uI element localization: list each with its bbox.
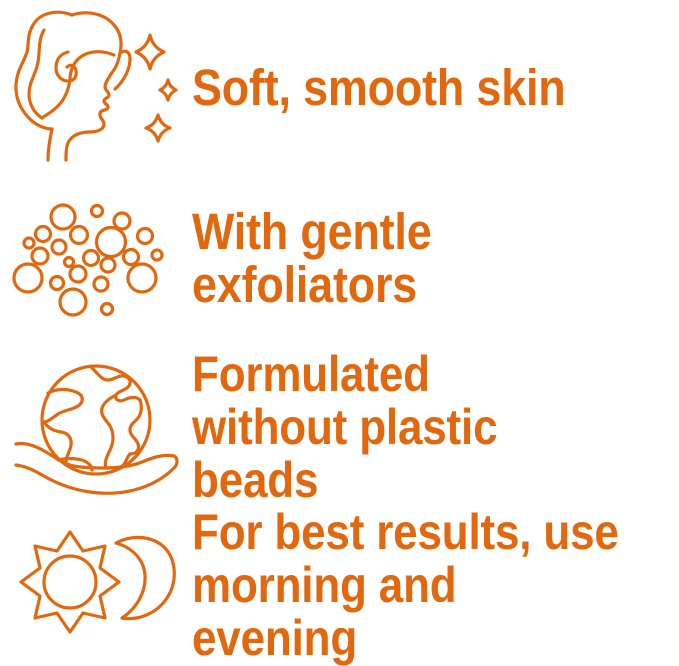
sun-and-moon-icon [0, 530, 195, 640]
benefit-row: For best results, use morning and evenin… [0, 515, 679, 655]
hand-holding-globe-icon [0, 358, 195, 498]
benefit-row: Formulated without plastic beads [0, 340, 679, 515]
benefit-label: Soft, smooth skin [192, 61, 621, 114]
face-with-sparkles-icon [0, 8, 195, 168]
product-benefits-list: Soft, smooth skin [0, 0, 679, 655]
benefit-row: Soft, smooth skin [0, 0, 679, 175]
benefit-row: With gentle exfoliators [0, 175, 679, 340]
benefit-label: Formulated without plastic beads [192, 348, 621, 507]
benefit-label: With gentle exfoliators [192, 205, 621, 311]
exfoliating-beads-bubbles-icon [0, 198, 195, 318]
benefit-label: For best results, use morning and evenin… [192, 506, 621, 665]
